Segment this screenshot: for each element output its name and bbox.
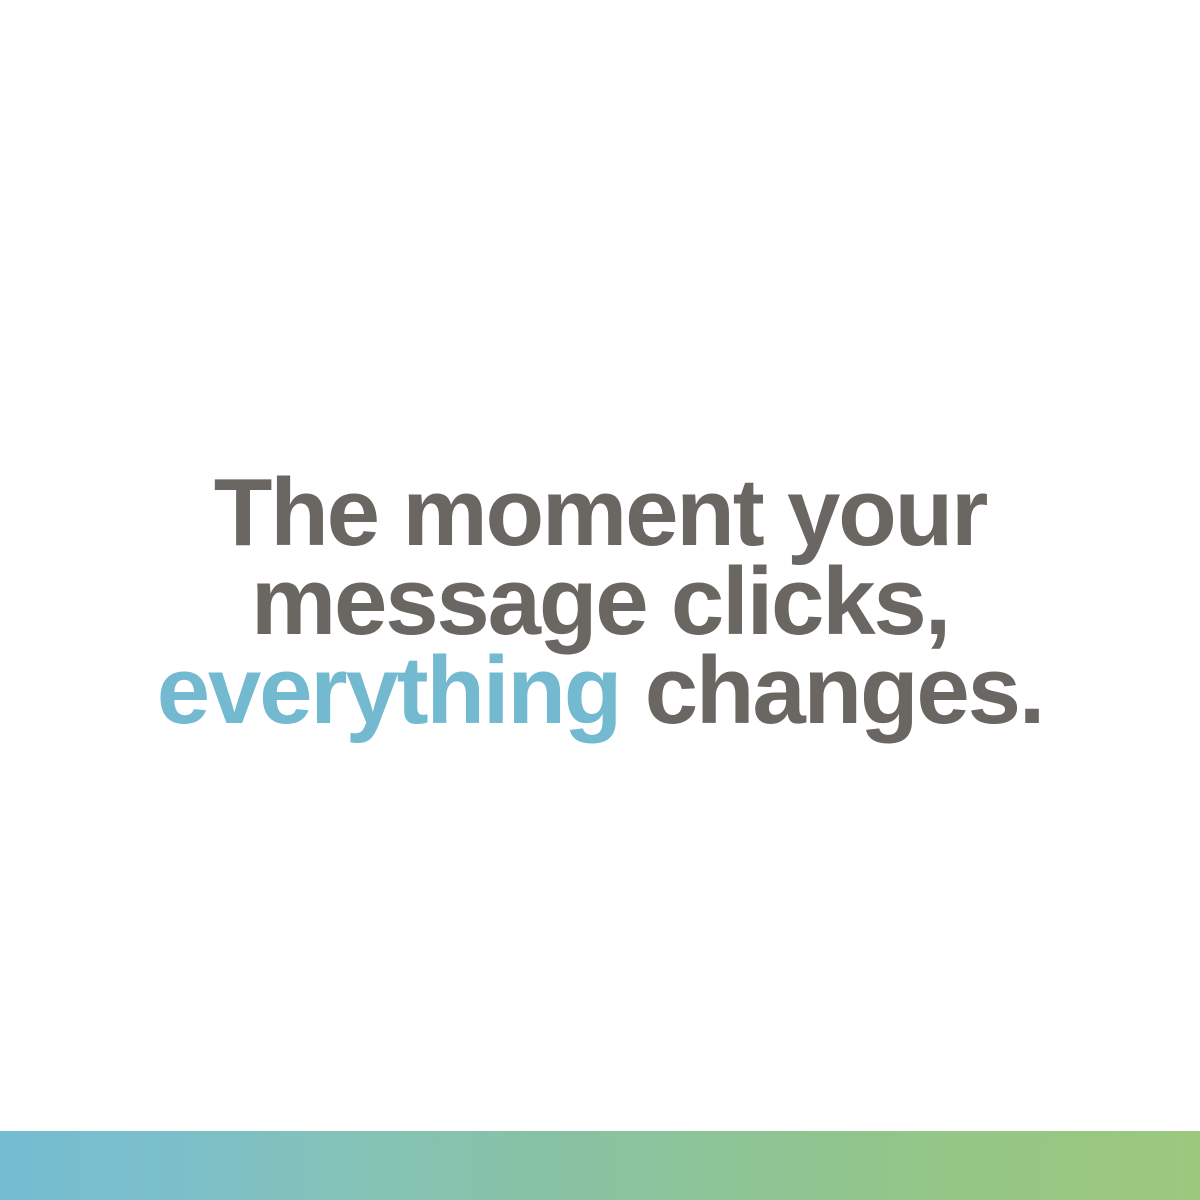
quote-line-1: The moment your <box>0 468 1200 557</box>
bottom-gradient-bar <box>0 1131 1200 1200</box>
quote-line-2: message clicks, <box>0 557 1200 646</box>
quote-line-3: everything changes. <box>0 646 1200 735</box>
quote-card: The moment your message clicks, everythi… <box>0 0 1200 1200</box>
quote-text-block: The moment your message clicks, everythi… <box>0 468 1200 735</box>
quote-accent-word: everything <box>157 637 621 744</box>
quote-line-3-rest: changes. <box>620 637 1043 744</box>
